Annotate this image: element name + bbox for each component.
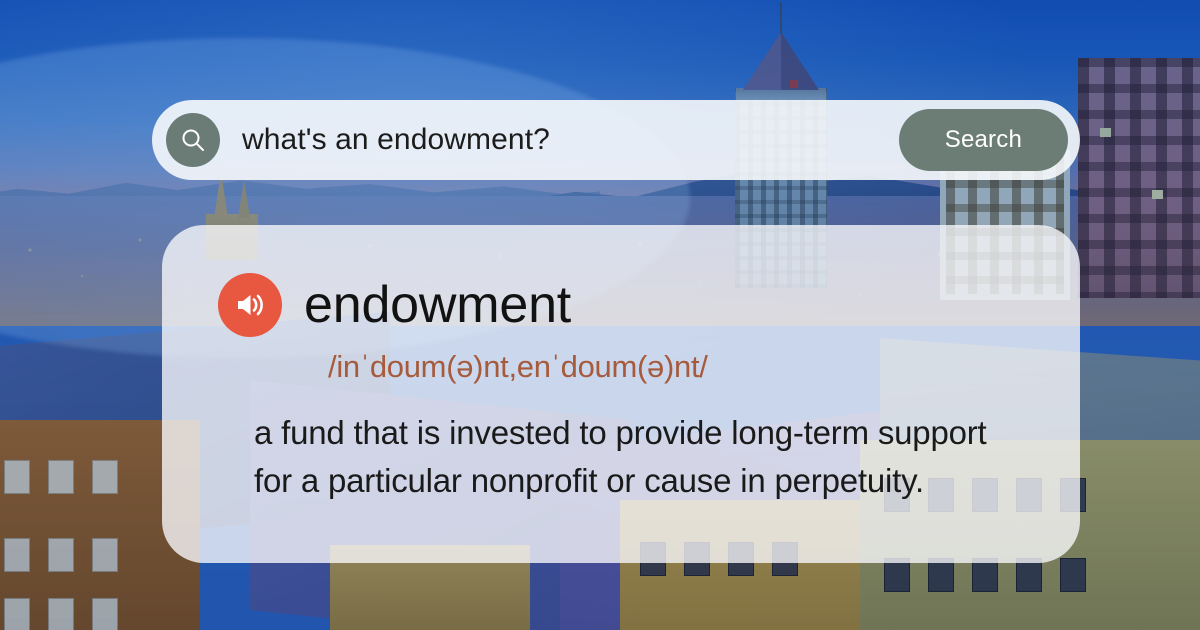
search-button[interactable]: Search	[899, 109, 1068, 171]
page-root: what's an endowment? Search endowment /i…	[0, 0, 1200, 630]
definition-text: a fund that is invested to provide long-…	[254, 409, 1024, 505]
search-icon	[179, 126, 207, 154]
speaker-icon	[233, 288, 267, 322]
headword-row: endowment	[218, 273, 1024, 337]
search-icon-button[interactable]	[166, 113, 220, 167]
headword: endowment	[304, 279, 571, 331]
search-bar[interactable]: what's an endowment? Search	[152, 100, 1080, 180]
definition-card: endowment /inˈdoum(ə)nt,enˈdoum(ə)nt/ a …	[162, 225, 1080, 563]
search-input[interactable]: what's an endowment?	[242, 123, 899, 157]
phonetic-pronunciation: /inˈdoum(ə)nt,enˈdoum(ə)nt/	[328, 349, 1024, 385]
pronounce-audio-button[interactable]	[218, 273, 282, 337]
